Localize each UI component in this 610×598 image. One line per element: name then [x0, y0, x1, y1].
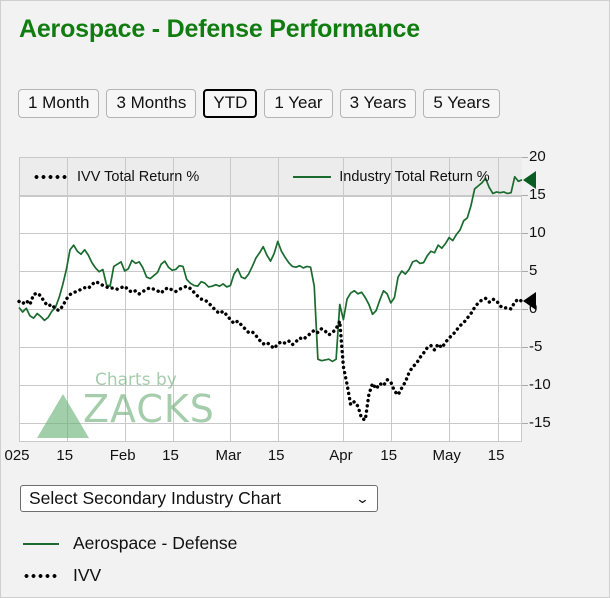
series-line — [19, 282, 522, 420]
x-axis-tick-label: 15 — [488, 448, 505, 463]
x-axis-tick-label: Mar — [216, 448, 242, 463]
x-axis-tick-label: 15 — [56, 448, 73, 463]
legend-item-ivv: IVV — [23, 565, 101, 586]
y-axis-tick-label: 10 — [529, 225, 546, 240]
solid-line-icon — [23, 543, 59, 545]
y-axis-tick-label: 20 — [529, 149, 546, 164]
page-title: Aerospace - Defense Performance — [19, 15, 420, 44]
range-button-1-month[interactable]: 1 Month — [18, 89, 99, 118]
legend-label-aerospace-defense: Aerospace - Defense — [73, 533, 237, 554]
performance-chart: Charts by ZACKS IVV Total Return % Indus… — [19, 157, 522, 442]
x-axis-tick-label: 15 — [380, 448, 397, 463]
x-axis-tick-label: Feb — [110, 448, 136, 463]
secondary-industry-select[interactable]: Select Secondary Industry Chart ⌄ — [20, 485, 378, 512]
y-axis-tick-label: 15 — [529, 187, 546, 202]
series-line — [19, 177, 522, 362]
x-axis-tick-label: 025 — [4, 448, 29, 463]
x-axis-tick-label: 15 — [162, 448, 179, 463]
range-button-ytd[interactable]: YTD — [203, 89, 257, 118]
y-axis-tick-mark — [522, 347, 528, 348]
series-end-marker — [523, 292, 536, 310]
secondary-industry-select-value: Select Secondary Industry Chart — [29, 488, 281, 509]
legend-label-ivv: IVV — [73, 565, 101, 586]
range-button-5-years[interactable]: 5 Years — [423, 89, 500, 118]
y-axis-tick-label: -5 — [529, 339, 542, 354]
range-button-3-years[interactable]: 3 Years — [340, 89, 417, 118]
x-axis-tick-label: May — [433, 448, 461, 463]
y-axis-tick-label: -10 — [529, 377, 551, 392]
y-axis-tick-mark — [522, 233, 528, 234]
y-axis-tick-label: 5 — [529, 263, 537, 278]
y-axis-tick-mark — [522, 385, 528, 386]
x-axis-tick-label: Apr — [329, 448, 352, 463]
range-button-1-year[interactable]: 1 Year — [264, 89, 332, 118]
y-axis-tick-mark — [522, 157, 528, 158]
range-button-group: 1 Month 3 Months YTD 1 Year 3 Years 5 Ye… — [18, 89, 500, 118]
range-button-3-months[interactable]: 3 Months — [106, 89, 196, 118]
x-axis-tick-label: 15 — [268, 448, 285, 463]
dotted-line-icon — [23, 574, 59, 578]
y-axis-tick-mark — [522, 195, 528, 196]
y-axis-tick-mark — [522, 423, 528, 424]
chevron-down-icon: ⌄ — [355, 492, 370, 505]
series-layer — [19, 157, 522, 442]
y-axis-tick-mark — [522, 271, 528, 272]
legend-item-aerospace-defense: Aerospace - Defense — [23, 533, 237, 554]
series-end-marker — [523, 171, 536, 189]
y-axis-tick-label: -15 — [529, 415, 551, 430]
